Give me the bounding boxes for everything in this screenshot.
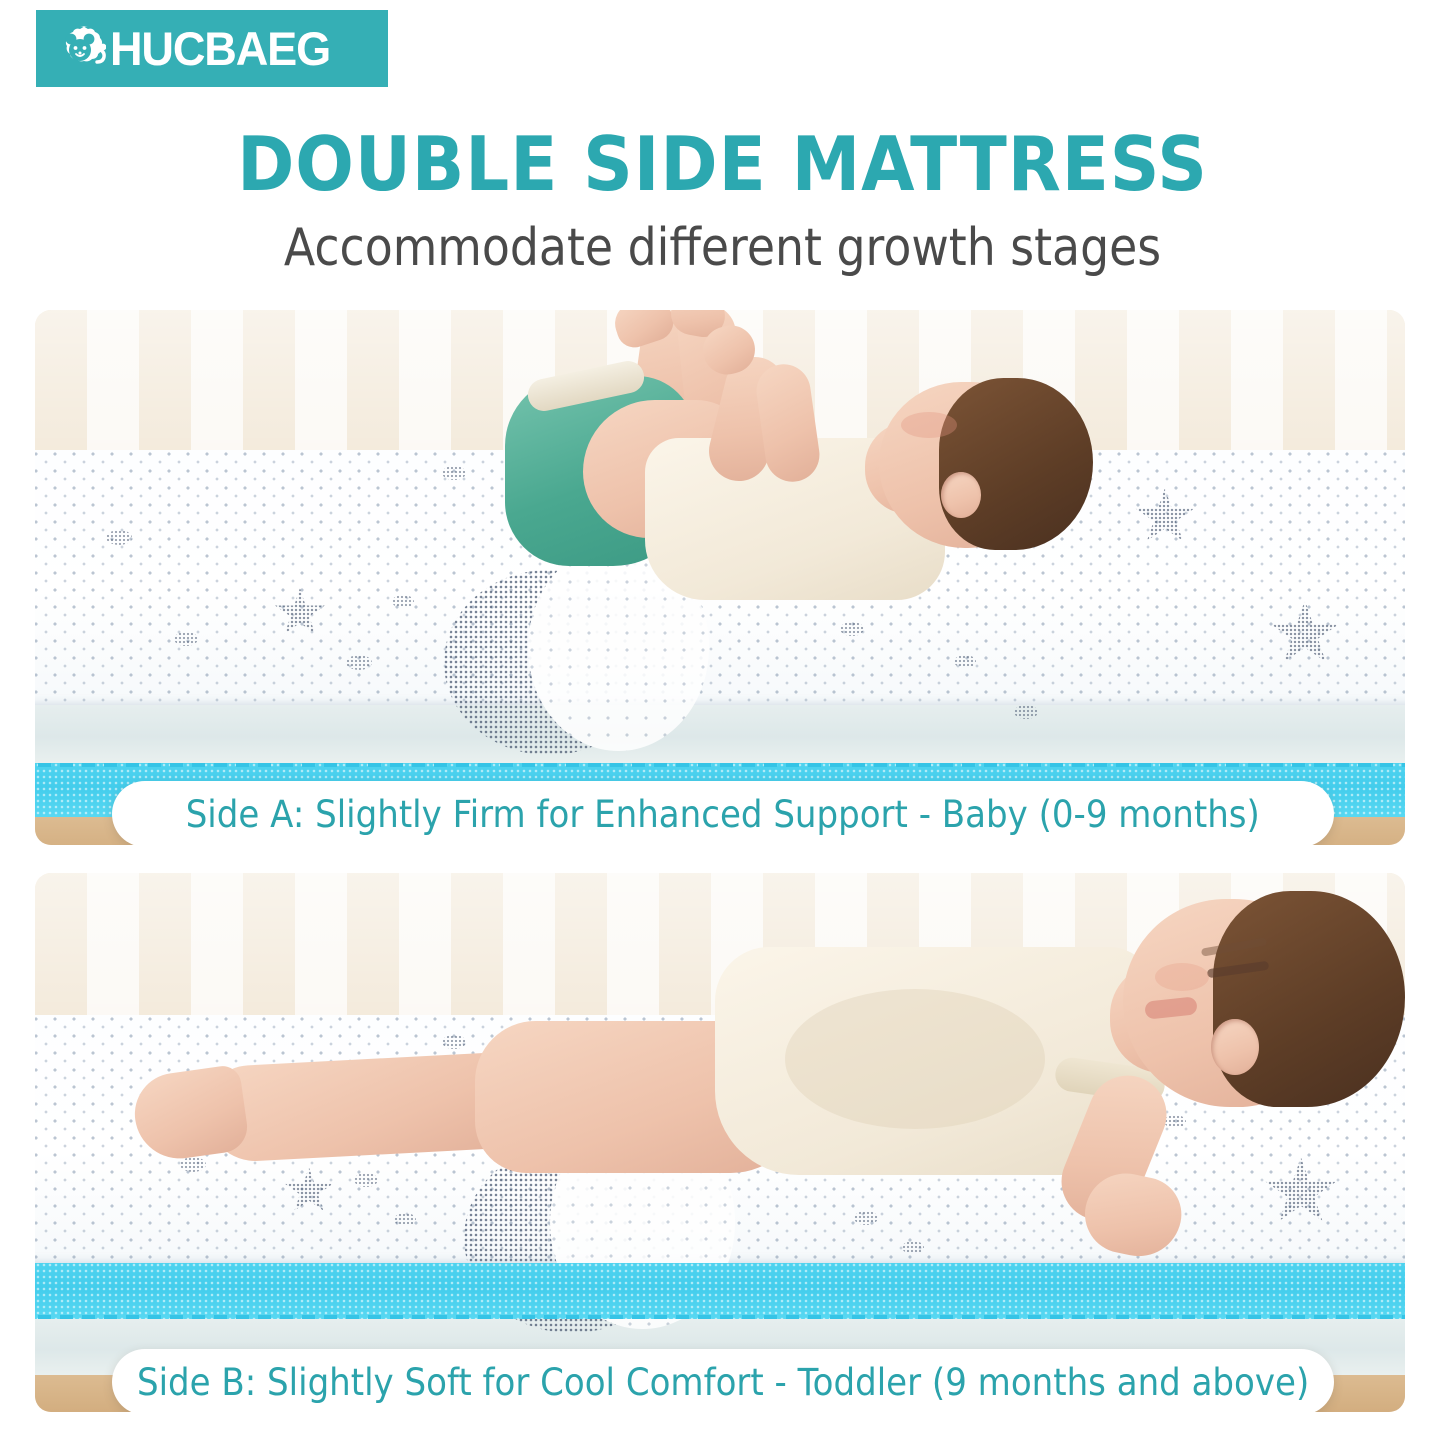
brand-logo-badge: HUCBAEG bbox=[36, 10, 388, 87]
star-motif bbox=[1134, 488, 1196, 546]
cloud-motif bbox=[392, 595, 414, 608]
page-title: DOUBLE SIDE MATTRESS bbox=[58, 127, 1387, 202]
cloud-motif bbox=[174, 632, 198, 646]
brand-name: HUCBAEG bbox=[110, 25, 330, 72]
star-motif bbox=[1269, 600, 1341, 668]
baby-figure-side-a bbox=[465, 310, 1105, 624]
star-motif bbox=[274, 588, 326, 638]
mattress-cyan-foam-band bbox=[35, 1263, 1405, 1319]
caption-text-side-b: Side B: Slightly Soft for Cool Comfort -… bbox=[137, 1364, 1309, 1401]
cloud-motif bbox=[902, 1241, 924, 1254]
lion-face-icon bbox=[54, 23, 106, 75]
infographic-page: HUCBAEG DOUBLE SIDE MATTRESS Accommodate… bbox=[0, 0, 1445, 1445]
cloud-motif bbox=[346, 655, 372, 670]
product-photo-side-a: Side A: Slightly Firm for Enhanced Suppo… bbox=[35, 310, 1405, 845]
cloud-motif bbox=[442, 466, 466, 480]
cloud-motif bbox=[840, 622, 864, 636]
cloud-motif bbox=[106, 530, 132, 545]
page-subtitle: Accommodate different growth stages bbox=[87, 222, 1359, 274]
cloud-motif bbox=[1014, 705, 1038, 719]
caption-pill-side-a: Side A: Slightly Firm for Enhanced Suppo… bbox=[112, 781, 1334, 845]
product-photo-side-b: Side B: Slightly Soft for Cool Comfort -… bbox=[35, 873, 1405, 1412]
caption-text-side-a: Side A: Slightly Firm for Enhanced Suppo… bbox=[186, 796, 1260, 833]
cloud-motif bbox=[954, 655, 976, 668]
caption-pill-side-b: Side B: Slightly Soft for Cool Comfort -… bbox=[112, 1349, 1334, 1412]
mattress-mint-foam-band bbox=[35, 705, 1405, 763]
toddler-figure-side-b bbox=[95, 903, 1365, 1233]
